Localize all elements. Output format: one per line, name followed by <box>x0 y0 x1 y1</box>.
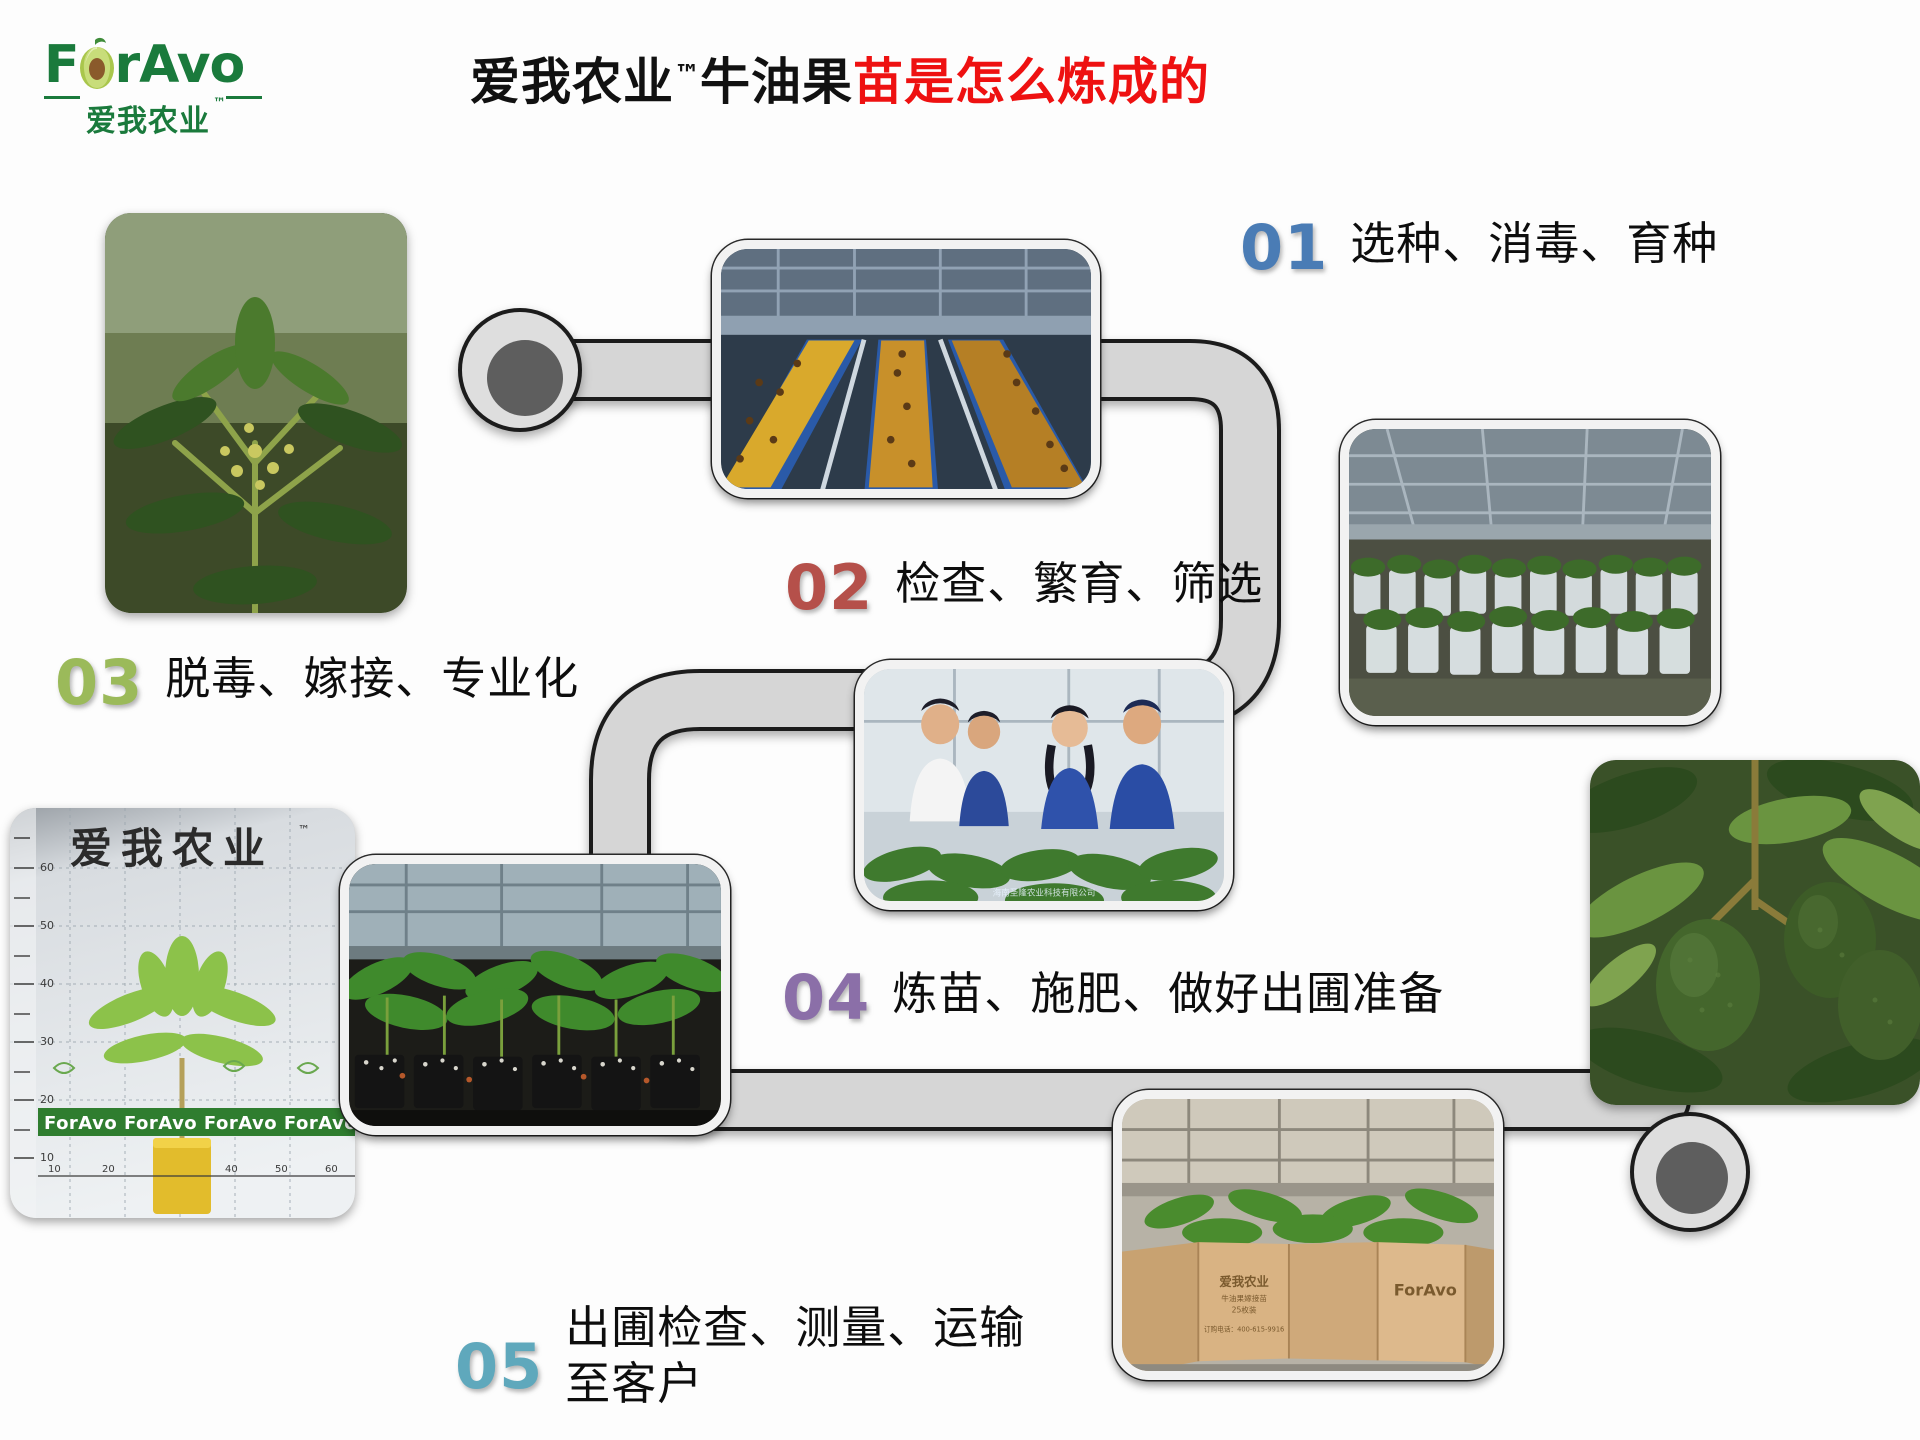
brand-band-text: ForAvo ForAvo ForAvo ForAvo <box>44 1113 355 1134</box>
photo-watermark-tm: ™ <box>298 823 310 837</box>
step-01-label: 选种、消毒、育种 <box>1350 215 1718 273</box>
seedling-with-ruler-photo: 60 50 40 30 20 10 爱我农业 ™ <box>10 808 355 1218</box>
infographic-canvas: F rAvo 爱我农业™ 爱我农业™牛油果苗是怎么炼成的 <box>0 0 1920 1440</box>
logo-trademark-symbol: ™ <box>213 96 226 111</box>
potted-seedling-rows-photo <box>340 855 730 1135</box>
photo-watermark: 海南圣隆农业科技有限公司 <box>993 887 1096 899</box>
flow-end-node <box>1632 1114 1748 1230</box>
step-02: 02 检查、繁育、筛选 <box>785 555 1263 621</box>
bagged-grafted-plants-greenhouse-photo <box>1340 420 1720 725</box>
carton-qty-label: 25枚装 <box>1232 1305 1257 1315</box>
logo-chinese-name: 爱我农业 <box>80 96 216 140</box>
logo-word-f: F <box>44 34 79 96</box>
photo-content <box>1590 760 1920 1105</box>
photo-watermark: 爱我农业 <box>70 824 274 873</box>
brand-logo: F rAvo 爱我农业™ <box>44 34 314 134</box>
carton-foravo-label: ForAvo <box>1394 1280 1457 1299</box>
step-04: 04 炼苗、施肥、做好出圃准备 <box>782 965 1444 1031</box>
avocado-fruit-on-tree-photo <box>1590 760 1920 1105</box>
title-trademark-symbol: ™ <box>674 60 700 90</box>
seed-trays-greenhouse-photo <box>712 240 1100 498</box>
step-04-label: 炼苗、施肥、做好出圃准备 <box>892 965 1444 1023</box>
photo-content <box>1349 429 1711 716</box>
title-highlight: 苗是怎么炼成的 <box>853 53 1210 111</box>
svg-text:60: 60 <box>40 861 54 874</box>
title-black-part-2: 牛油果 <box>700 53 853 111</box>
svg-text:60: 60 <box>325 1164 338 1175</box>
logo-wordmark: F rAvo <box>44 34 314 96</box>
logo-rule-left <box>44 96 80 99</box>
photo-content: 海南圣隆农业科技有限公司 <box>864 669 1224 901</box>
logo-subtitle: 爱我农业™ <box>44 96 314 134</box>
step-03-number: 03 <box>55 650 143 716</box>
page-title: 爱我农业™牛油果苗是怎么炼成的 <box>470 40 1670 110</box>
step-01: 01 选种、消毒、育种 <box>1240 215 1718 281</box>
step-03: 03 脱毒、嫁接、专业化 <box>55 650 579 716</box>
flow-start-node <box>460 310 580 430</box>
step-03-label: 脱毒、嫁接、专业化 <box>165 650 579 708</box>
carton-phone-label: 订购电话：400-615-9916 <box>1204 1325 1284 1334</box>
staff-inspecting-seedlings-photo: 海南圣隆农业科技有限公司 <box>855 660 1233 910</box>
step-01-number: 01 <box>1240 215 1328 281</box>
step-04-number: 04 <box>782 965 870 1031</box>
packed-shipping-cartons-photo: 爱我农业 牛油果嫁接苗 25枚装 订购电话：400-615-9916 ForAv… <box>1113 1090 1503 1380</box>
svg-text:20: 20 <box>102 1164 115 1175</box>
svg-text:50: 50 <box>275 1164 288 1175</box>
step-02-label: 检查、繁育、筛选 <box>895 555 1263 613</box>
avocado-flowering-branch-photo <box>105 213 407 613</box>
step-02-number: 02 <box>785 555 873 621</box>
step-05: 05 出圃检查、测量、运输 至客户 <box>455 1300 1025 1412</box>
svg-text:50: 50 <box>40 919 54 932</box>
photo-content: 爱我农业 牛油果嫁接苗 25枚装 订购电话：400-615-9916 ForAv… <box>1122 1099 1494 1371</box>
step-05-label: 出圃检查、测量、运输 至客户 <box>565 1300 1025 1412</box>
photo-content: 60 50 40 30 20 10 爱我农业 ™ <box>10 808 355 1218</box>
avocado-icon <box>77 36 117 90</box>
svg-text:10: 10 <box>40 1151 54 1164</box>
title-black-part-1: 爱我农业 <box>470 53 674 111</box>
logo-rule-right <box>226 96 262 99</box>
photo-content <box>721 249 1091 489</box>
photo-content <box>105 213 407 613</box>
carton-product-label: 牛油果嫁接苗 <box>1221 1293 1267 1303</box>
photo-content <box>349 864 721 1126</box>
svg-text:30: 30 <box>40 1035 54 1048</box>
svg-text:20: 20 <box>40 1093 54 1106</box>
svg-text:10: 10 <box>48 1164 61 1175</box>
svg-text:40: 40 <box>225 1164 238 1175</box>
step-05-number: 05 <box>455 1334 543 1400</box>
svg-text:40: 40 <box>40 977 54 990</box>
logo-word-ravo: rAvo <box>115 34 245 96</box>
carton-brand-label: 爱我农业 <box>1219 1274 1269 1289</box>
